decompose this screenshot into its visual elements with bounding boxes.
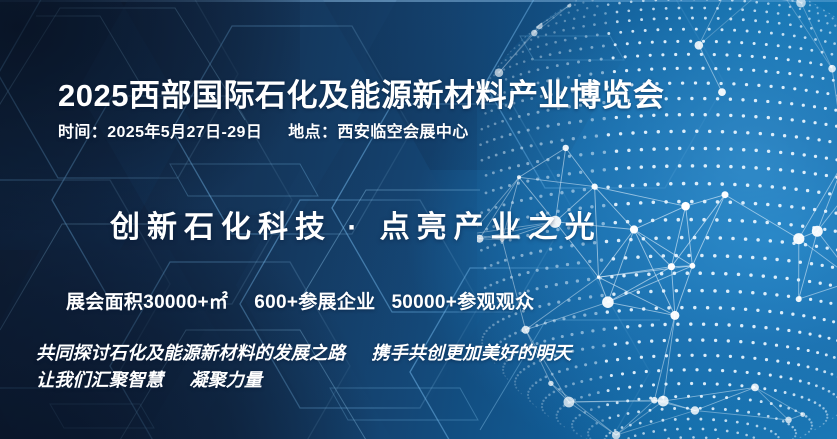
stat-area: 展会面积30000+㎡ (66, 292, 228, 313)
stat-visitors: 50000+参观观众 (391, 292, 534, 313)
tagline-line-2: 让我们汇聚智慧凝聚力量 (36, 366, 262, 392)
exhibition-banner: 2025西部国际石化及能源新材料产业博览会 时间：2025年5月27日-29日地… (0, 0, 837, 439)
tagline-2a: 让我们汇聚智慧 (36, 370, 163, 390)
event-slogan: 创新石化科技 · 点亮产业之光 (110, 202, 602, 246)
event-place-label: 地点： (288, 124, 337, 141)
event-time-label: 时间： (58, 124, 107, 141)
event-meta: 时间：2025年5月27日-29日地点：西安临空会展中心 (58, 118, 469, 142)
event-place-value: 西安临空会展中心 (337, 124, 468, 141)
tagline-line-1: 共同探讨石化及能源新材料的发展之路携手共创更加美好的明天 (36, 339, 572, 365)
stat-exhibitors: 600+参展企业 (254, 292, 375, 313)
tagline-1b: 携手共创更加美好的明天 (371, 343, 571, 363)
tagline-1a: 共同探讨石化及能源新材料的发展之路 (36, 343, 345, 363)
event-time-value: 2025年5月27日-29日 (107, 124, 262, 141)
tagline-2b: 凝聚力量 (189, 370, 262, 390)
event-stats: 展会面积30000+㎡600+参展企业50000+参观观众 (66, 287, 534, 314)
page-title: 2025西部国际石化及能源新材料产业博览会 (58, 70, 664, 115)
